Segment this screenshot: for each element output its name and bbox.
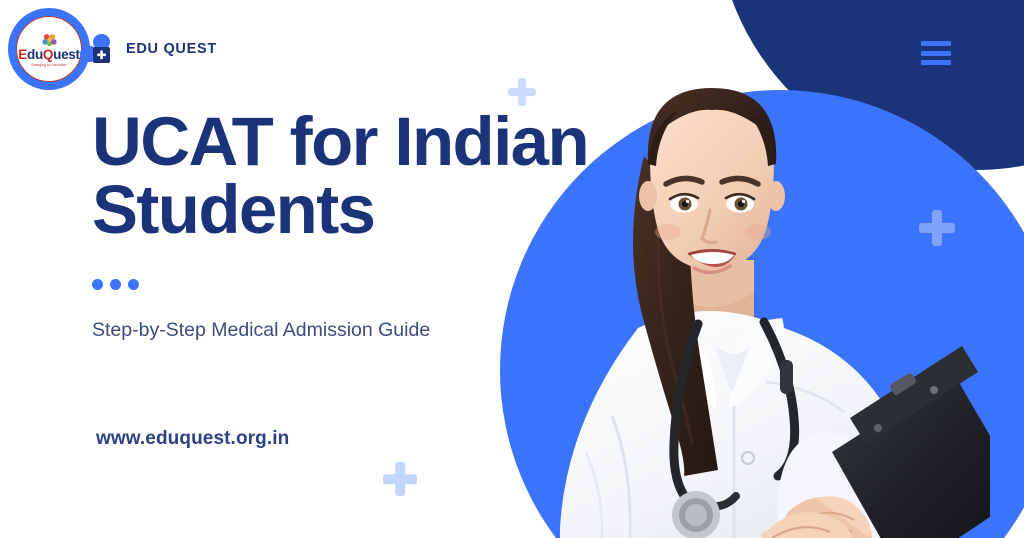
plus-icon [919,210,955,246]
dot [92,279,103,290]
headline-line-2: Students [92,171,374,248]
plus-icon [508,78,536,106]
website-url[interactable]: www.eduquest.org.in [96,428,289,450]
dot [110,279,121,290]
hero-banner: EduQuest Emerging by Education EDU QUEST… [0,0,1024,538]
hero-text-block: UCAT for Indian Students Step-by-Step Me… [92,108,632,345]
logo-wordmark: EduQuest [18,48,79,62]
medical-heart-plus-icon [78,32,112,66]
plus-icon [383,462,417,496]
hero-subtitle: Step-by-Step Medical Admission Guide [92,316,432,345]
dot [128,279,139,290]
dot-separator [92,279,632,290]
page-title: UCAT for Indian Students [92,108,632,245]
brand-name-text: EDU QUEST [126,41,217,57]
brand-logo-group[interactable]: EduQuest Emerging by Education EDU QUEST [8,8,217,90]
logo-tagline: Emerging by Education [31,63,66,67]
hamburger-menu-icon[interactable] [921,41,951,65]
headline-line-1: UCAT for Indian [92,103,588,180]
